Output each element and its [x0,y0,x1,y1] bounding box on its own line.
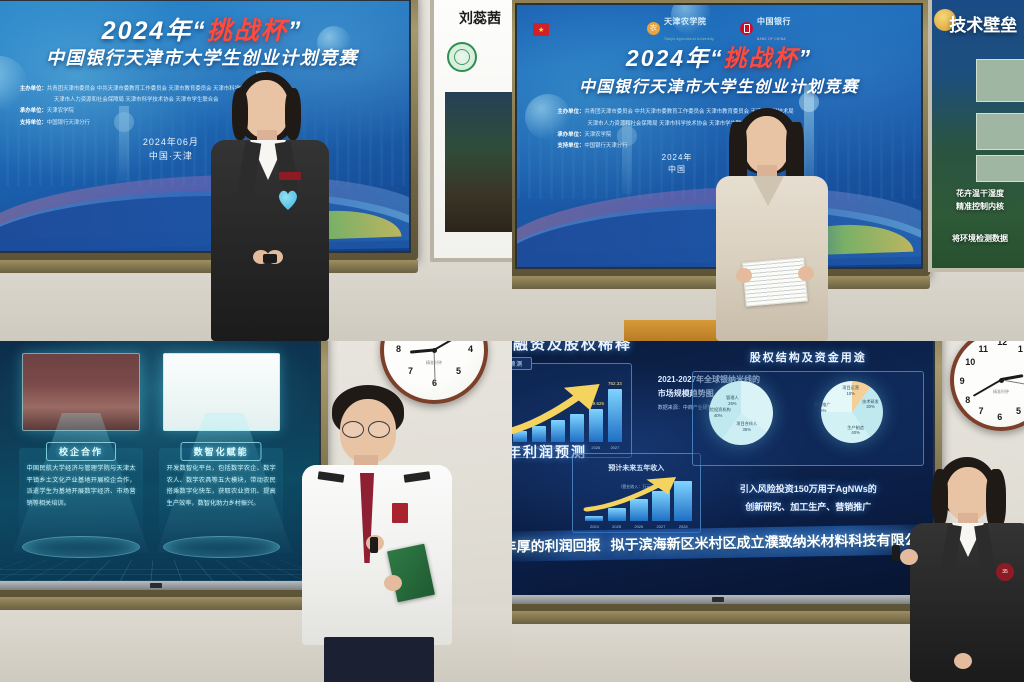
name-tag [279,172,301,180]
presentation-screen-frame: 校企合作 中国民航大学经济与管理学院与天津太平镇乡土文化产业基地开展校企合作，派… [0,341,328,597]
slide-title-year: 2024年 [102,17,193,45]
pie-slice-label: 生产制造40% [847,425,864,437]
info-box-left-heading: 校企合作 [46,442,116,461]
presentation-screen-frame: 融资及股权稀释 市场预测 2021 2022 2023 [512,341,942,611]
bar-2027: 2027 [652,491,670,521]
organizer-value: 天津农学院 [584,132,611,138]
hand [954,653,972,669]
market-chart-tab-label: 市场预测 [512,357,532,370]
university-logo-icon: 农 [647,22,660,35]
organizer-label: 主办单位： [20,86,47,92]
quote-open: “ [192,17,207,45]
slide-title-year: 2024年 [626,45,710,71]
info-box-right-body: 开发数智化平台，包括数字农企、数字农人、数字农具等五大模块，带动农民搭乘数字化快… [167,463,276,509]
info-box-left-body: 中国民航大学经济与管理学院与天津太平镇乡土文化产业基地开展校企合作，派遣学生为基… [27,463,136,509]
photo-collage: 2024年“挑战杯” 中国银行天津市大学生创业计划竞赛 主办单位：共青团天津市委… [0,0,1024,682]
screen-power-led-icon [150,583,162,588]
logo-label-cn: 天津农学院 [664,17,707,26]
bar-2026: 439.625 2026 [589,409,603,443]
side-display-screen: 刘蕊茜 [430,0,512,262]
blouse [716,176,828,341]
organizer-value: 天津农学院 [47,108,74,114]
info-box-left: 校企合作 中国民航大学经济与管理学院与天津太平镇乡土文化产业基地开展校企合作，派… [19,448,143,533]
investment-statement: 引入风险投资150万用于AgNWs的 创新研究、加工生产、营销推广 [684,480,933,516]
bar-2025: 2025 [608,508,626,521]
tech-photo-thumb [976,113,1024,151]
clock-number: 11 [978,344,988,354]
tech-caption-2: 精准控制内核 [932,201,1024,213]
bar-category: 2027 [610,445,619,450]
presentation-screen: 校企合作 中国民航大学经济与管理学院与天津太平镇乡土文化产业基地开展校企合作，派… [0,341,321,590]
clock-number: 6 [997,412,1002,422]
slide-title-line2: 中国银行天津市大学生创业计划竞赛 [0,44,409,70]
tech-slide-title: 技术壁垒 [949,11,1017,36]
revenue-forecast-chart-panel: 预计未来五年收入 （营业收入：万元） 2024 2025 2026 20 [572,453,701,533]
collage-panel-bottom-left: 校企合作 中国民航大学经济与管理学院与天津太平镇乡土文化产业基地开展校企合作，派… [0,341,512,682]
investment-line-1: 引入风险投资150万用于AgNWs的 [684,480,933,498]
trousers [324,637,434,682]
collage-panel-top-right: ★ 农 天津农学院 Tianjin Agricultural Universit… [512,0,1024,341]
screen-led-strip [512,595,942,604]
slide-title-cup: 挑战杯 [207,17,288,45]
slide-title-cup: 挑战杯 [724,45,799,71]
clock-second-hand [1001,380,1024,387]
presentation-clicker [263,254,277,263]
clock-number: 8 [396,344,401,354]
organizer-value: 中国银行天津分行 [584,143,627,149]
hair-side [285,88,301,140]
organizer-value: 天津市人力资源和社会保障局 天津市科学技术协会 天津市学生联合会 [54,97,219,103]
clock-number: 9 [960,376,965,386]
banner-text-left: 丰厚的利润回报 [512,535,601,557]
pie-slice-label: 风险投资机构40% [706,407,731,419]
revenue-chart-title: 预计未来五年收入 [608,465,664,472]
presenter-person [205,72,335,341]
bank-logo-icon [740,22,753,35]
bar-category: 2026 [634,524,643,529]
pie-slice-label: 管理人25% [726,395,739,407]
tech-caption-1: 花卉温干湿度 [932,188,1024,200]
bar-category: 2024 [590,524,599,529]
bar-2025: 2025 [570,414,584,442]
presentation-script [742,257,808,306]
presenter-person: 35 [910,457,1024,682]
organizer-label: 主办单位： [557,109,584,115]
clock-number: 10 [965,357,975,367]
logo-label-cn: 中国银行 [757,17,791,26]
clock-number: 5 [456,366,461,376]
organizer-label: 支持单位： [557,143,584,149]
hair-side [232,88,248,140]
tech-photo-thumb [976,59,1024,102]
screen-tray [512,611,942,624]
pie-slice-label: 项目运营10% [842,385,859,397]
pie-slice-label: 营销推广25% [814,402,831,414]
clock-center-pin [999,378,1004,383]
investment-line-2: 创新研究、加工生产、营销推广 [684,498,933,516]
hand [736,268,752,283]
screen-tray [0,597,328,610]
hand [798,266,814,281]
screen-power-led-icon [712,597,724,602]
clock-number: 7 [408,366,413,376]
clock-second-hand [434,350,436,386]
tech-caption-3: 将环境检测数据 [932,233,1024,245]
bar-value-label: 439.625 [588,401,604,406]
quote-close: ” [799,45,813,71]
collage-panel-bottom-right: 融资及股权稀释 市场预测 2021 2022 2023 [512,341,1024,682]
clock-number: 5 [1016,406,1021,416]
presentation-clicker [370,537,378,553]
slide-title-line1: 2024年“挑战杯” [0,11,409,47]
bar-value-label: 762.33 [608,381,622,386]
quote-open: “ [710,45,724,71]
organizer-label: 支持单位： [20,120,47,126]
glasses-icon [342,421,364,438]
uniform-shirt [302,465,452,645]
hair-side [932,469,948,527]
tech-slide: 技术壁垒 花卉温干湿度 精准控制内核 将环境检测数据 [932,0,1024,268]
organizer-label: 承办单位： [20,108,47,114]
hair-side [986,469,1006,531]
slide-header: 融资及股权稀释 [513,341,632,354]
bar-2024: 2024 [585,516,603,521]
bar-2023: 2023 [532,426,546,442]
clock-number: 12 [997,341,1007,347]
hand [384,575,402,591]
pie-slice-label: 技术研发30% [862,399,879,411]
clock-number: 1 [1018,344,1023,354]
organizer-value: 中国银行天津分行 [47,120,90,126]
presenter-person [296,385,466,682]
market-forecast-bars: 2021 2022 2023 2024 2025 439.625 [512,384,622,442]
clock-hour-hand [410,349,434,354]
glasses-icon [368,421,390,438]
clock-brand-label: 精准时钟 [993,389,1009,395]
clock-minute-hand [434,341,464,351]
banner-text-right: 拟于滨海新区米村区成立濮致纳米材料科技有限公司 [611,529,933,555]
university-seal-icon [447,42,477,72]
slide-title-line1: 2024年“挑战杯” [517,39,921,73]
presentation-clicker [892,545,900,561]
info-box-right-heading: 数智化赋能 [181,442,262,461]
slide-title-line2: 中国银行天津市大学生创业计划竞赛 [517,73,921,97]
bar-2024: 2024 [551,420,565,443]
pie-section-title: 股权结构及资金用途 [692,349,924,365]
decor-ellipse [22,536,139,559]
bar-2027: 762.33 2027 [608,389,622,442]
revenue-forecast-bars: 2024 2025 2026 2027 2028 [585,479,692,521]
quote-close: ” [288,17,303,45]
contestant-number-badge: 35 [996,563,1014,581]
bar-2022: 2022 [513,431,527,443]
decor-ellipse [163,536,280,559]
bar-category: 2025 [612,524,621,529]
pie-slice-label: 项目合伙人35% [736,421,757,433]
hand [900,549,918,565]
bar-2026: 2026 [630,499,648,521]
presenter-name-label: 刘蕊茜 [434,8,512,28]
organizer-label: 承办单位： [557,132,584,138]
secondary-display-screen: 技术壁垒 花卉温干湿度 精准控制内核 将环境检测数据 [928,0,1024,272]
field-photo [445,92,512,232]
presenter-person [702,108,842,341]
tech-photo-thumb [976,155,1024,182]
cooperation-slide: 校企合作 中国民航大学经济与管理学院与天津太平镇乡土文化产业基地开展校企合作，派… [0,341,319,588]
screen-led-strip [0,581,328,590]
clock-number: 7 [978,406,983,416]
financing-slide: 融资及股权稀释 市场预测 2021 2022 2023 [512,341,933,602]
clock-center-pin [432,348,437,353]
collage-panel-top-left: 2024年“挑战杯” 中国银行天津市大学生创业计划竞赛 主办单位：共青团天津市委… [0,0,512,341]
presentation-screen: 融资及股权稀释 市场预测 2021 2022 2023 [512,341,935,604]
info-box-right: 数智化赋能 开发数智化平台，包括数字农企、数字农人、数字农具等五大模块，带动农民… [159,448,283,533]
clock-number: 8 [965,395,970,405]
clock-number: 4 [468,344,473,354]
fund-usage-pie-chart: 项目运营10% 技术研发30% 生产制造40% 营销推广25% [821,381,883,443]
bar-category: 2026 [591,445,600,450]
student-badge [392,503,408,523]
